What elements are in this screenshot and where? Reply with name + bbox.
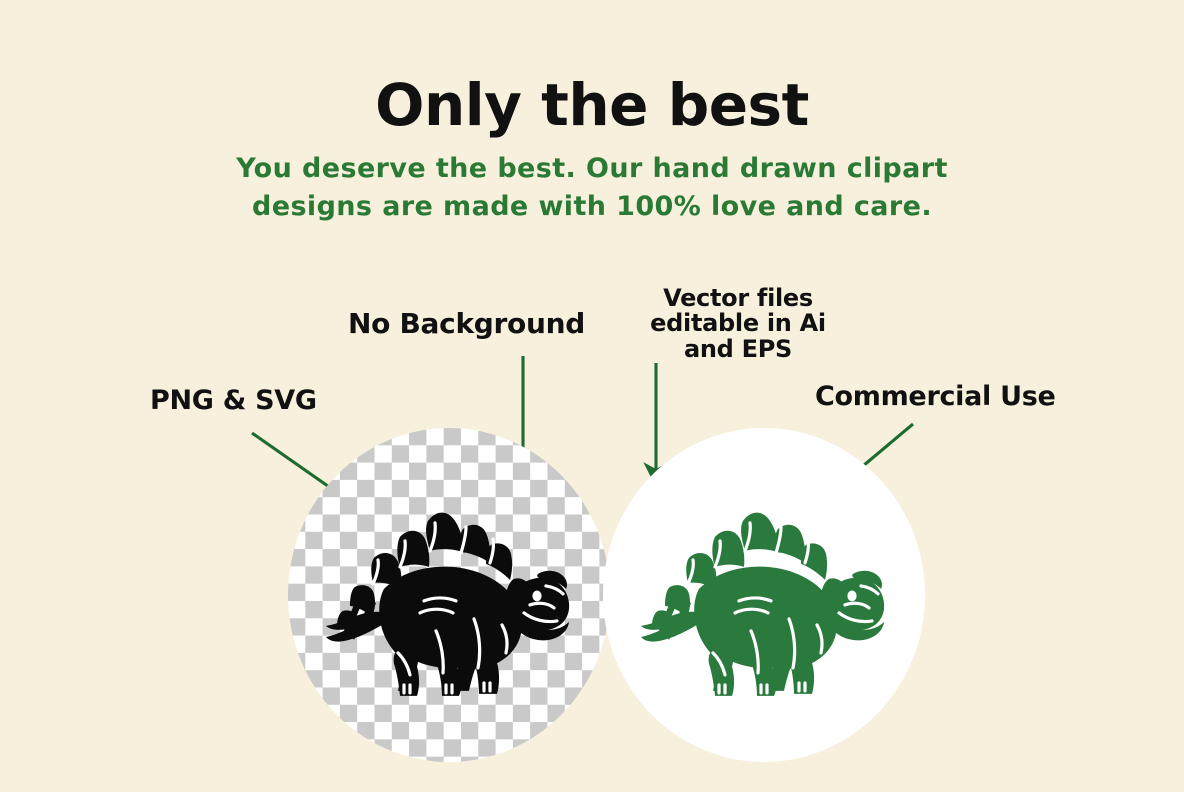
solid-background-preview <box>603 428 925 762</box>
callout-label-png-svg: PNG & SVG <box>150 387 317 416</box>
page-subtitle: You deserve the best. Our hand drawn cli… <box>0 150 1184 227</box>
callout-label-no-background: No Background <box>348 309 585 339</box>
page-title: Only the best <box>0 76 1184 134</box>
artwork-holder-left <box>288 428 610 762</box>
vector-line-3: and EPS <box>684 335 792 363</box>
vector-line-2: editable in Ai <box>650 309 826 337</box>
vector-line-1: Vector files <box>663 284 813 312</box>
stegosaurus-silhouette-black <box>324 501 574 697</box>
transparent-background-preview <box>288 428 610 762</box>
artwork-holder-right <box>603 428 925 762</box>
callout-label-commercial-use: Commercial Use <box>815 383 1056 412</box>
stegosaurus-silhouette-green <box>639 501 889 697</box>
subtitle-line-1: You deserve the best. Our hand drawn cli… <box>0 150 1184 188</box>
callout-label-vector-files: Vector files editable in Ai and EPS <box>648 286 828 362</box>
subtitle-line-2: designs are made with 100% love and care… <box>0 188 1184 226</box>
poster-canvas: Only the best You deserve the best. Our … <box>0 0 1184 792</box>
